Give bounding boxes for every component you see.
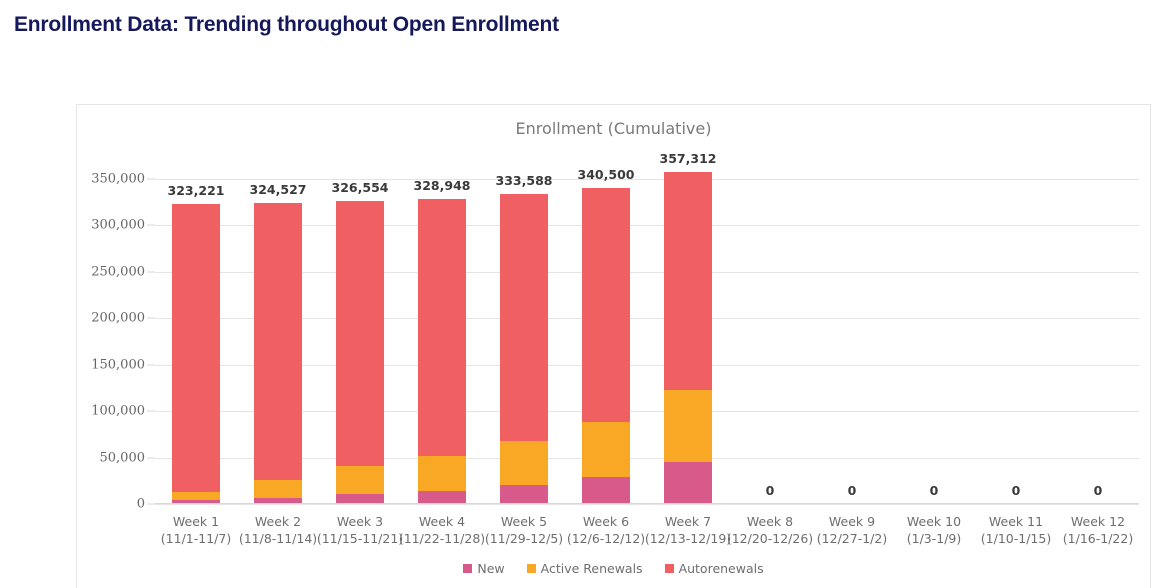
x-axis-tick-label-line: Week 1	[161, 513, 231, 530]
x-axis-tick-label: Week 12(1/16-1/22)	[1063, 513, 1133, 547]
y-axis-tick-label: 0	[137, 497, 145, 512]
y-axis-tick-mark	[147, 225, 155, 226]
gridline	[155, 504, 1139, 505]
legend-item[interactable]: Autorenewals	[665, 561, 764, 576]
bar-value-label: 0	[848, 483, 857, 498]
x-axis-tick-label-line: Week 11	[981, 513, 1051, 530]
bar-segment-active-renewals[interactable]	[172, 492, 220, 500]
x-axis-tick-label: Week 3(11/15-11/21)	[317, 513, 403, 547]
x-axis-tick-label-line: (1/3-1/9)	[907, 530, 962, 547]
x-axis-tick-label-line: Week 5	[485, 513, 563, 530]
legend-swatch-icon	[527, 564, 536, 573]
bar-value-label: 340,500	[578, 167, 635, 182]
y-axis-tick-label: 350,000	[91, 172, 145, 187]
bar-segment-autorenewals[interactable]	[336, 201, 384, 467]
bar-column[interactable]: 0Week 8(12/20-12/26)	[729, 133, 811, 504]
bar-value-label: 323,221	[168, 183, 225, 198]
bar-value-label: 0	[766, 483, 775, 498]
x-axis-tick-label-line: (1/10-1/15)	[981, 530, 1051, 547]
bar-column[interactable]: 0Week 11(1/10-1/15)	[975, 133, 1057, 504]
bar-column[interactable]: 326,554Week 3(11/15-11/21)	[319, 133, 401, 504]
y-axis-tick-mark	[147, 318, 155, 319]
bar-value-label: 0	[930, 483, 939, 498]
bar-segment-autorenewals[interactable]	[254, 203, 302, 481]
x-axis-tick-label-line: Week 4	[399, 513, 485, 530]
x-axis-tick-label-line: Week 7	[645, 513, 731, 530]
legend-item[interactable]: Active Renewals	[527, 561, 643, 576]
legend-label: New	[477, 561, 504, 576]
bar-value-label: 326,554	[332, 180, 389, 195]
bar-segment-active-renewals[interactable]	[664, 390, 712, 462]
bar-segment-new[interactable]	[664, 462, 712, 504]
x-axis-tick-label-line: (1/16-1/22)	[1063, 530, 1133, 547]
x-axis-tick-label-line: (12/20-12/26)	[727, 530, 813, 547]
y-axis-tick-mark	[147, 179, 155, 180]
bar-column[interactable]: 340,500Week 6(12/6-12/12)	[565, 133, 647, 504]
x-axis-tick-label-line: (11/1-11/7)	[161, 530, 231, 547]
y-axis-tick-mark	[147, 364, 155, 365]
x-axis-tick-label: Week 2(11/8-11/14)	[239, 513, 317, 547]
bar-column[interactable]: 333,588Week 5(11/29-12/5)	[483, 133, 565, 504]
x-axis-tick-label-line: (11/22-11/28)	[399, 530, 485, 547]
x-axis-tick-label: Week 4(11/22-11/28)	[399, 513, 485, 547]
bar-column[interactable]: 324,527Week 2(11/8-11/14)	[237, 133, 319, 504]
page-title: Enrollment Data: Trending throughout Ope…	[14, 13, 559, 37]
x-axis-tick-label: Week 7(12/13-12/19)	[645, 513, 731, 547]
bar-segment-active-renewals[interactable]	[582, 422, 630, 477]
bar-value-label: 0	[1094, 483, 1103, 498]
x-axis-tick-label-line: (12/27-1/2)	[817, 530, 887, 547]
bar-column[interactable]: 328,948Week 4(11/22-11/28)	[401, 133, 483, 504]
bar-column[interactable]: 0Week 12(1/16-1/22)	[1057, 133, 1139, 504]
x-axis-tick-label: Week 5(11/29-12/5)	[485, 513, 563, 547]
x-axis-tick-label-line: Week 10	[907, 513, 962, 530]
x-axis-tick-label-line: Week 3	[317, 513, 403, 530]
bar-column[interactable]: 323,221Week 1(11/1-11/7)	[155, 133, 237, 504]
bar-value-label: 357,312	[660, 151, 717, 166]
legend-swatch-icon	[665, 564, 674, 573]
y-axis-tick-label: 300,000	[91, 218, 145, 233]
x-axis-tick-label-line: (11/15-11/21)	[317, 530, 403, 547]
x-axis-tick-label-line: Week 9	[817, 513, 887, 530]
bar-column[interactable]: 357,312Week 7(12/13-12/19)	[647, 133, 729, 504]
y-axis-tick-mark	[147, 457, 155, 458]
x-axis-tick-label-line: Week 6	[567, 513, 645, 530]
x-axis-tick-label: Week 10(1/3-1/9)	[907, 513, 962, 547]
x-axis-tick-label: Week 6(12/6-12/12)	[567, 513, 645, 547]
legend-label: Autorenewals	[679, 561, 764, 576]
x-axis-tick-label-line: Week 12	[1063, 513, 1133, 530]
x-axis-tick-label: Week 11(1/10-1/15)	[981, 513, 1051, 547]
bar-column[interactable]: 0Week 9(12/27-1/2)	[811, 133, 893, 504]
x-axis-tick-label: Week 1(11/1-11/7)	[161, 513, 231, 547]
x-axis-tick-label-line: (12/6-12/12)	[567, 530, 645, 547]
legend-swatch-icon	[463, 564, 472, 573]
bar-segment-new[interactable]	[500, 485, 548, 505]
bar-segment-autorenewals[interactable]	[582, 188, 630, 422]
x-axis-tick-label-line: Week 2	[239, 513, 317, 530]
y-axis-tick-mark	[147, 411, 155, 412]
x-axis-tick-label-line: Week 8	[727, 513, 813, 530]
y-axis-tick-mark	[147, 504, 155, 505]
y-axis-tick-label: 150,000	[91, 357, 145, 372]
bar-segment-autorenewals[interactable]	[664, 172, 712, 390]
bar-value-label: 328,948	[414, 178, 471, 193]
x-axis-tick-label: Week 9(12/27-1/2)	[817, 513, 887, 547]
bar-segment-autorenewals[interactable]	[172, 204, 220, 493]
x-axis-tick-label-line: (11/29-12/5)	[485, 530, 563, 547]
y-axis-tick-mark	[147, 271, 155, 272]
chart-card: Enrollment (Cumulative) 050,000100,00015…	[76, 104, 1151, 588]
x-axis-tick-label: Week 8(12/20-12/26)	[727, 513, 813, 547]
y-axis-tick-label: 100,000	[91, 404, 145, 419]
bar-segment-active-renewals[interactable]	[418, 456, 466, 491]
bar-segment-new[interactable]	[582, 477, 630, 504]
y-axis-tick-label: 50,000	[100, 450, 146, 465]
bar-segment-active-renewals[interactable]	[500, 441, 548, 484]
x-axis-tick-label-line: (11/8-11/14)	[239, 530, 317, 547]
bar-segment-autorenewals[interactable]	[500, 194, 548, 441]
bar-segment-active-renewals[interactable]	[254, 480, 302, 498]
legend-item[interactable]: New	[463, 561, 504, 576]
chart-plot-area: 050,000100,000150,000200,000250,000300,0…	[155, 179, 1139, 504]
bar-column[interactable]: 0Week 10(1/3-1/9)	[893, 133, 975, 504]
y-axis-tick-label: 200,000	[91, 311, 145, 326]
chart-legend: NewActive RenewalsAutorenewals	[77, 561, 1150, 576]
x-axis-line	[155, 503, 1139, 504]
bar-value-label: 324,527	[250, 182, 307, 197]
bar-value-label: 0	[1012, 483, 1021, 498]
bar-segment-active-renewals[interactable]	[336, 466, 384, 494]
bar-value-label: 333,588	[496, 173, 553, 188]
y-axis-tick-label: 250,000	[91, 264, 145, 279]
legend-label: Active Renewals	[541, 561, 643, 576]
bar-segment-autorenewals[interactable]	[418, 199, 466, 457]
x-axis-tick-label-line: (12/13-12/19)	[645, 530, 731, 547]
